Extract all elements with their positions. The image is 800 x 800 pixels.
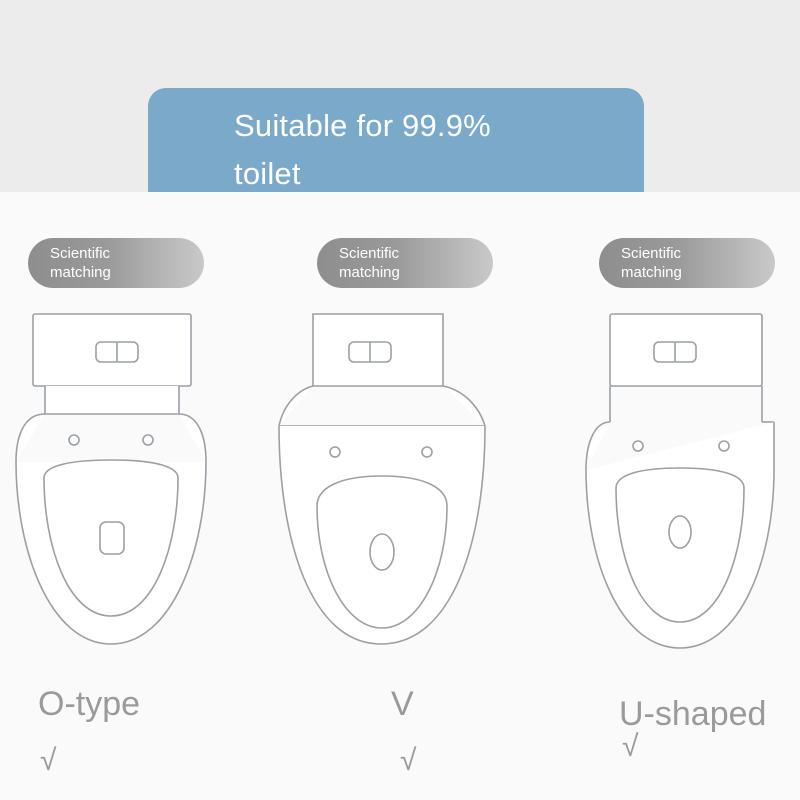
- scientific-matching-tag: Scientific matching: [317, 238, 493, 288]
- scientific-matching-label: Scientific matching: [621, 244, 731, 282]
- u-shaped-caption: U-shaped: [619, 694, 766, 734]
- banner-line-1: Suitable for 99.9%: [234, 102, 644, 150]
- u-shaped-toilet-illustration: [534, 310, 800, 670]
- v-type-caption: V: [391, 684, 414, 724]
- scientific-matching-tag: Scientific matching: [28, 238, 204, 288]
- scientific-matching-label: Scientific matching: [339, 244, 449, 282]
- v-type-toilet-illustration: [267, 310, 533, 670]
- toilet-option-v-type[interactable]: Scientific matching: [267, 192, 533, 800]
- toilet-option-u-shaped[interactable]: Scientific matching: [534, 192, 800, 800]
- u-shaped-checkmark: √: [622, 730, 638, 764]
- o-type-caption: O-type: [38, 684, 140, 724]
- toilet-option-o-type[interactable]: Scientific matching: [0, 192, 266, 800]
- scientific-matching-label: Scientific matching: [50, 244, 160, 282]
- banner-line-2: toilet: [234, 150, 644, 198]
- promo-banner: Suitable for 99.9% toilet: [148, 88, 644, 192]
- v-type-checkmark: √: [400, 744, 416, 778]
- comparison-panel: Scientific matching: [0, 192, 800, 800]
- o-type-checkmark: √: [40, 744, 56, 778]
- scientific-matching-tag: Scientific matching: [599, 238, 775, 288]
- o-type-toilet-illustration: [0, 310, 266, 670]
